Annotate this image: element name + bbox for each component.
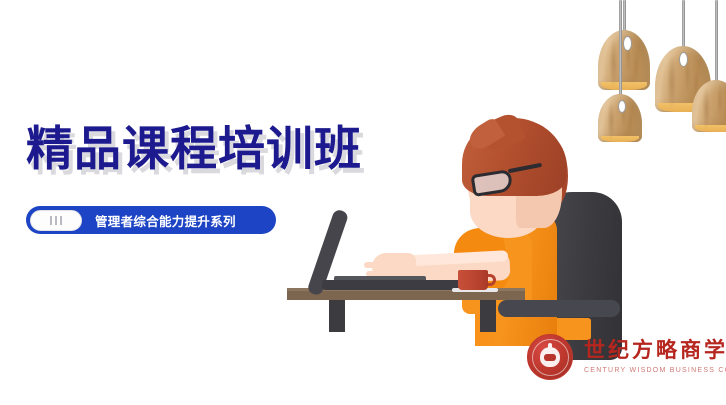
lamp-cord-icon [682,0,685,50]
lamp-shade-icon [692,80,726,132]
lamp-cord-hole-icon [618,100,626,113]
desk-leg [480,300,496,332]
title-block: 精品课程培训班 [26,126,362,173]
lamp-cord-hole-icon [679,52,688,67]
circular-seal-emblem-icon [527,334,573,380]
brand-name-en: CENTURY WISDOM BUSINESS COLLEGE [584,367,726,374]
subtitle-badge[interactable]: 管理者综合能力提升系列 [26,206,276,234]
coffee-mug-icon [458,270,488,290]
brand-name-cn: 世纪方略商学院 [584,340,726,361]
course-banner: 精品课程培训班 管理者综合能力提升系列 世纪方略商学院 CENTURY WISD… [0,0,726,405]
lamp-glow [601,136,640,142]
pendant-lamp-3 [598,0,642,140]
page-title: 精品课程培训班 [26,126,362,173]
desk-leg [329,300,345,332]
lamp-glow [695,125,726,132]
laptop-base [322,280,470,290]
pendant-lamp-4 [692,0,726,140]
subtitle-badge-label: 管理者综合能力提升系列 [95,211,236,230]
brand-logo: 世纪方略商学院 CENTURY WISDOM BUSINESS COLLEGE [527,334,726,380]
person-finger [364,262,384,268]
office-chair-armrest [498,300,620,317]
three-bars-icon [30,210,82,231]
lamp-cord-icon [619,0,622,98]
brand-logo-texts: 世纪方略商学院 CENTURY WISDOM BUSINESS COLLEGE [584,340,726,374]
lamp-cord-icon [715,0,718,84]
